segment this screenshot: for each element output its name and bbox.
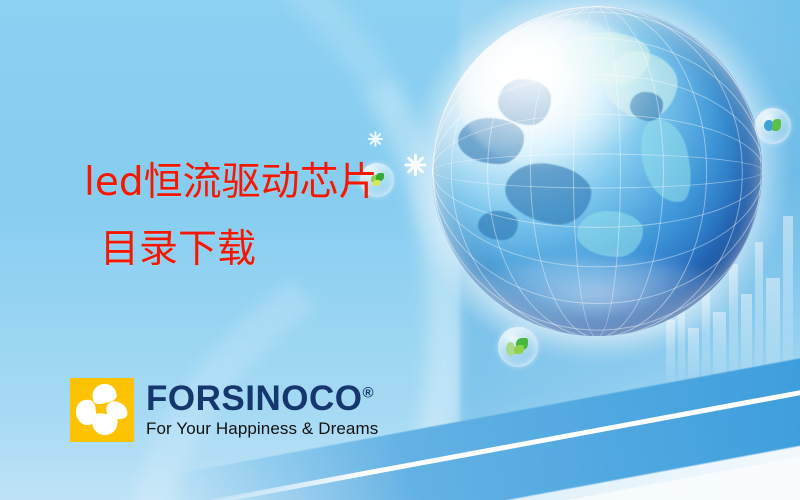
daisy-sparkle-small: [369, 133, 382, 146]
daisy-sparkle: [402, 152, 428, 178]
bubble-with-globe-icon: [755, 108, 791, 144]
logo-brand-name: FORSINOCO®: [146, 381, 378, 416]
logo-tagline: For Your Happiness & Dreams: [146, 419, 378, 439]
headline-line-2: 目录下载: [100, 230, 378, 269]
headline-line-1: led恒流驱动芯片: [84, 163, 378, 202]
headline: led恒流驱动芯片 目录下载: [84, 163, 378, 269]
logo-text-block: FORSINOCO® For Your Happiness & Dreams: [146, 381, 378, 439]
poster-canvas: led恒流驱动芯片 目录下载 FORSINOCO® For Your Happi…: [0, 0, 800, 500]
brand-logo: FORSINOCO® For Your Happiness & Dreams: [70, 378, 378, 442]
registered-trademark-icon: ®: [362, 384, 374, 401]
globe-illustration: [432, 6, 762, 336]
globe-base-glow: [446, 258, 746, 350]
logo-brand-word: FORSINOCO: [146, 379, 362, 418]
bubble-with-leaf: [498, 327, 538, 367]
logo-mark-icon: [70, 378, 134, 442]
